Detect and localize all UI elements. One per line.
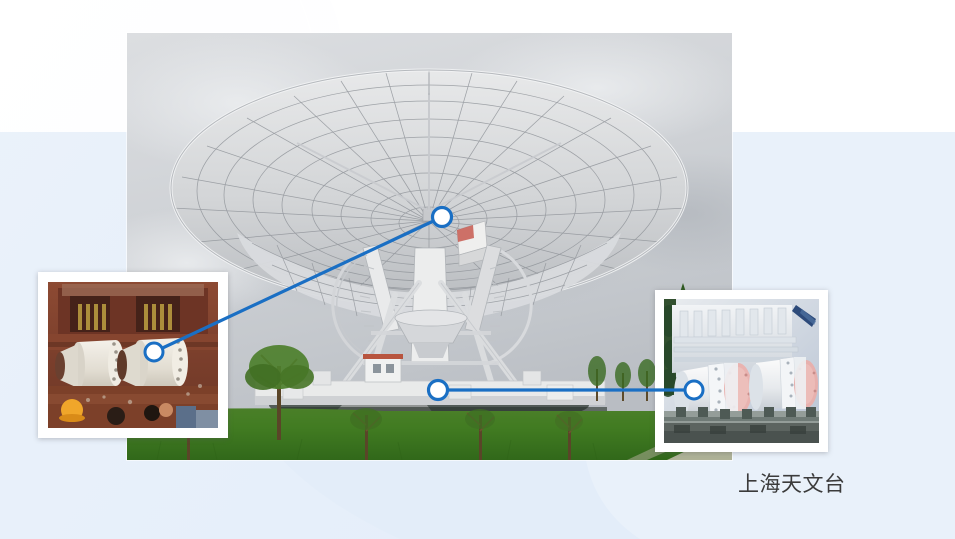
callout-photo-right	[655, 290, 828, 452]
slide-canvas: 上海天文台	[0, 0, 955, 539]
image-caption: 上海天文台	[738, 471, 846, 497]
callout-left-image	[48, 282, 218, 428]
callout-right-image	[664, 299, 819, 443]
callout-photo-left	[38, 272, 228, 438]
